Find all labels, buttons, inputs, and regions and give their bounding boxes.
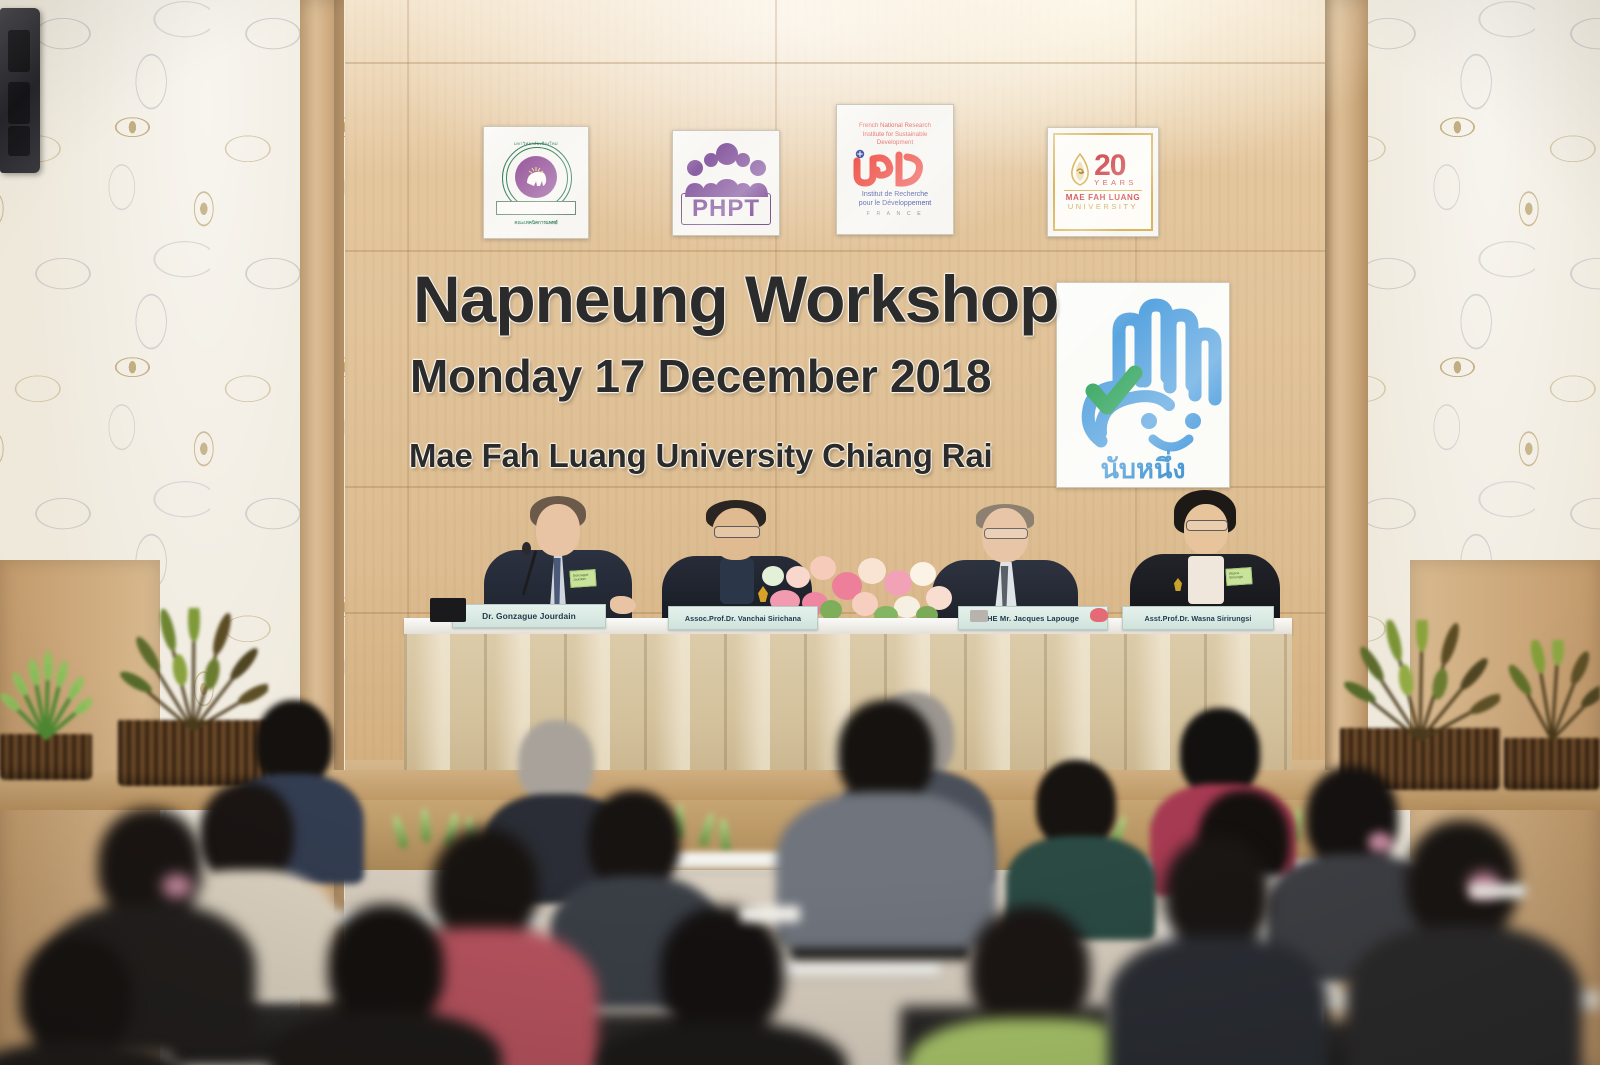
mfu-20-years-poster: 20 YEARS MAE FAH LUANG UNIVERSITY [1047,127,1159,237]
mfu-university-name: MAE FAH LUANG [1066,193,1140,202]
napneung-thai-text: นับหนึ่ง [1057,456,1229,483]
hand [610,596,636,614]
event-date: Monday 17 December 2018 [410,349,991,403]
ird-country: F R A N C E [867,211,924,217]
audience-member-center [802,700,962,940]
microphone-head-icon [522,542,531,555]
ird-english-name: French National Research Institute for S… [853,122,937,147]
event-title: Napneung Workshop [413,261,1058,337]
chiang-mai-university-seal-poster: มหาวิทยาลัยเชียงใหม่ คณะเทคนิคการแพทย์ [483,126,589,239]
audience-member-front [0,936,170,1065]
napneung-hand-poster: นับหนึ่ง [1056,282,1230,488]
phpt-wordmark: PHPT [681,193,771,225]
phpt-logo-poster: PHPT [672,130,780,236]
mfu-emblem-icon [1069,153,1091,187]
eyeglasses-icon [714,526,760,538]
audience-member [1020,760,1132,920]
paper-document [1470,884,1526,898]
name-badge: Wasna Sirirungsi [1225,567,1252,586]
potted-plant-far-left [0,648,92,780]
audience-member-front [300,904,472,1065]
elephant-icon [522,163,550,191]
ird-monogram-icon [847,149,943,189]
audience-member-front [934,906,1124,1065]
ird-french-name: Institut de Recherche pour le Développem… [859,191,931,209]
event-venue: Mae Fah Luang University Chiang Rai [409,437,992,475]
loudspeaker-icon [0,8,40,173]
nameplate-panelist-4: Asst.Prof.Dr. Wasna Sirirungsi [1122,606,1274,630]
hair-scrunchie [162,874,192,898]
small-decoration [1090,608,1108,622]
mfu-university-sub: UNIVERSITY [1068,202,1138,211]
name-badge: Gonzague Jourdain [569,569,596,588]
ird-logo-poster: French National Research Institute for S… [836,104,954,235]
potted-croton-right [1340,620,1500,790]
audience-member-front [620,906,820,1065]
laptop [430,598,466,622]
cmu-seal-icon: มหาวิทยาลัยเชียงใหม่ คณะเทคนิคการแพทย์ [494,141,578,225]
phpt-people-icon [683,141,769,197]
potted-plant-far-right [1504,640,1600,790]
paper-document [740,906,800,922]
mfu-number: 20 [1094,153,1137,179]
eyeglasses-icon [984,528,1028,539]
audience-member-front [1376,820,1548,1065]
nameplate-panelist-2: Assoc.Prof.Dr. Vanchai Sirichana [668,606,818,630]
audience-member-front [1136,836,1296,1065]
name-card-holder [970,610,988,622]
napneung-hand-icon [1057,283,1229,461]
mfu-years-label: YEARS [1094,178,1137,187]
eyeglasses-icon [1186,520,1228,531]
cmu-bottom-text: คณะเทคนิคการแพทย์ [494,220,578,227]
conference-photo: มหาวิทยาลัยเชียงใหม่ คณะเทคนิคการแพทย์ [0,0,1600,1065]
nameplate-panelist-1: Dr. Gonzague Jourdain [452,604,606,628]
